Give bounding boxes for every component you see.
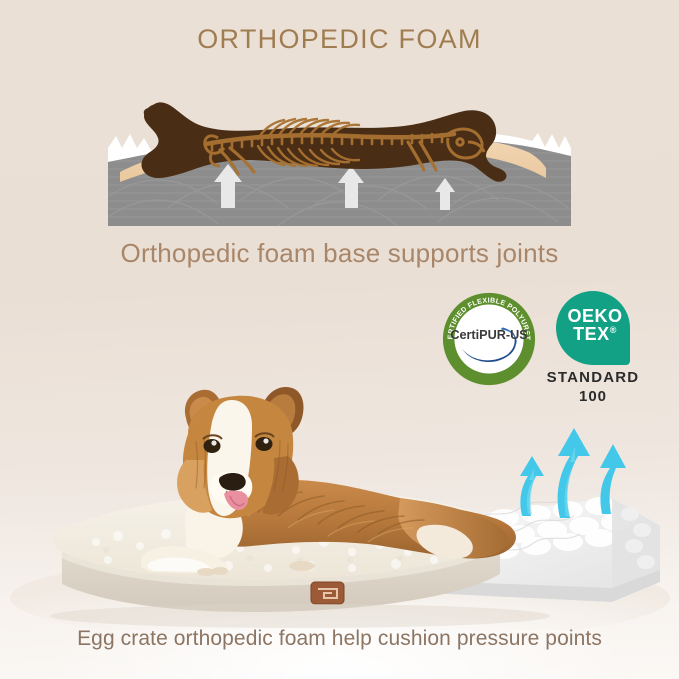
airflow-arrows	[498, 398, 648, 548]
diagram-caption: Orthopedic foam base supports joints	[0, 238, 679, 269]
rear-paw	[289, 561, 315, 571]
bottom-caption: Egg crate orthopedic foam help cushion p…	[0, 627, 679, 651]
orthopedic-foam-support-diagram	[108, 86, 571, 231]
brand-logo-patch	[311, 582, 344, 604]
oeko-line-1: OEKO	[567, 307, 622, 325]
dog-head	[177, 387, 303, 518]
infographic-canvas: ORTHOPEDIC FOAM	[0, 0, 679, 679]
page-title: ORTHOPEDIC FOAM	[0, 24, 679, 55]
